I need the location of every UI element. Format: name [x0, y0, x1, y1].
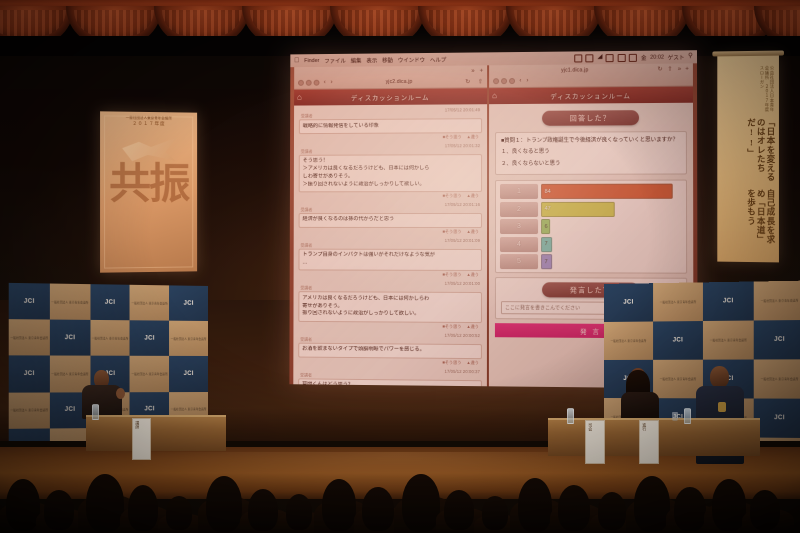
- audience-head: [402, 474, 440, 532]
- poll-bar-value: 47: [545, 206, 551, 212]
- reaction-disagree-button[interactable]: ▲違う: [466, 324, 479, 330]
- room-title-left: ディスカッションルーム: [351, 92, 429, 103]
- panelist-center: [618, 368, 662, 422]
- jci-org-name: 一般社団法人 東京青年会議所: [761, 377, 799, 381]
- menu-item-edit[interactable]: 編集: [351, 56, 362, 64]
- post-line: …: [302, 260, 478, 268]
- poll-bar: 7: [541, 237, 552, 252]
- slogan-line-2: 「日本を変えるのはオレたちだ!!」: [746, 118, 775, 187]
- poster-banner-left: 一般社団法人東京青年会議所 ２０１７年度 共振: [100, 111, 197, 272]
- jci-org-name: 一般社団法人 東京青年会議所: [171, 337, 207, 341]
- address-bar[interactable]: yjc2.dica.jp: [336, 78, 462, 85]
- jci-backdrop-tile: 一般社団法人 東京青年会議所: [50, 284, 90, 321]
- jci-logo: JCI: [24, 371, 35, 377]
- window-traffic-lights[interactable]: [493, 78, 515, 84]
- jci-logo: JCI: [673, 337, 683, 343]
- post-reactions[interactable]: ■そう思う▲違う: [298, 322, 482, 330]
- reaction-disagree-button[interactable]: ▲違う: [466, 272, 478, 278]
- menu-item-window[interactable]: ウインドウ: [398, 55, 425, 63]
- browser-chrome-left: » + ‹ › yjc2.dica.jp ↻ ⇧: [294, 65, 487, 89]
- jci-logo: JCI: [623, 300, 633, 306]
- poll-bar: 7: [541, 255, 552, 270]
- search-icon[interactable]: ⚲: [688, 54, 693, 61]
- jci-backdrop-tile: 一般社団法人 東京青年会議所: [653, 282, 703, 321]
- discussion-post: 17/05/12 20:01:00受講者アメリカは良くなるだろうけども、日本には…: [298, 281, 482, 330]
- menu-item-view[interactable]: 表示: [366, 56, 377, 64]
- battery-icon[interactable]: [606, 54, 614, 62]
- jci-backdrop-tile: 一般社団法人 東京青年会議所: [754, 281, 800, 321]
- post-line: 戦略的に情報発信をしている印象: [303, 122, 478, 131]
- jci-backdrop-tile: 一般社団法人 東京青年会議所: [754, 359, 800, 398]
- apple-logo-icon[interactable]: : [294, 57, 299, 64]
- post-reactions[interactable]: ■そう思う▲違う: [299, 133, 482, 141]
- discussion-post-list: 17/05/12 20:01:49受講者戦略的に情報発信をしている印象■そう思う…: [293, 104, 487, 386]
- room-header-left: ⌂ ディスカッションルーム: [294, 88, 487, 105]
- conference-hall-scene:  Finder ファイル 編集 表示 移動 ウインドウ ヘルプ ◢ 金 20:…: [0, 0, 800, 533]
- jci-backdrop-tile: JCI: [90, 284, 130, 320]
- jci-backdrop-tile: 一般社団法人 東京青年会議所: [130, 356, 169, 392]
- post-body: 経済が良くなるのは孫の代からだと思う: [299, 213, 482, 228]
- curtain-valance: [0, 0, 800, 36]
- jci-backdrop-tile: JCI: [754, 320, 800, 360]
- menu-item-file[interactable]: ファイル: [324, 56, 346, 64]
- jci-org-name: 一般社団法人 東京青年会議所: [710, 338, 747, 342]
- audience-head: [248, 489, 278, 531]
- reaction-agree-button[interactable]: ■そう思う: [443, 134, 462, 140]
- slogan-org-line: 公益社団法人日本青年会議所 ２０１７年度スローガン: [760, 66, 775, 116]
- reaction-disagree-button[interactable]: ▲違う: [466, 360, 479, 366]
- post-body: そう思う！＞アメリカは良くなるだろうけども、日本には何かしらしわ寄せがありそう。…: [299, 154, 482, 192]
- post-line: 経済が良くなるのは孫の代からだと思う: [303, 216, 479, 224]
- jci-backdrop-tile: JCI: [653, 321, 703, 360]
- speaker-left: [78, 370, 134, 420]
- poll-bar-value: 7: [545, 259, 548, 265]
- post-body: アメリカは良くなるだろうけども、日本には何かしらわ寄せがありそう。振り回されない…: [298, 292, 482, 323]
- post-reactions[interactable]: ■そう思う▲違う: [298, 271, 482, 279]
- post-body: お酒を飲まないタイプで頭脳明晰でパワーを感じる。: [298, 342, 482, 358]
- menubar-user[interactable]: ゲスト: [668, 53, 685, 61]
- poll-bar-index: 2: [500, 202, 538, 217]
- alert-icon[interactable]: [629, 53, 637, 61]
- audience-head: [166, 496, 192, 530]
- post-line: ＞振り回されないように政治がしっかりして欲しい。: [303, 181, 478, 189]
- plus-icon[interactable]: +: [480, 68, 484, 74]
- poster-kanji: 共振: [100, 164, 197, 206]
- share-icon[interactable]: ⇧: [668, 66, 673, 73]
- tabs-icon[interactable]: »: [471, 68, 474, 74]
- discussion-post: 17/05/12 20:01:32受講者そう思う！＞アメリカは良くなるだろうけど…: [299, 143, 482, 199]
- post-reactions[interactable]: ■そう思う▲違う: [299, 228, 482, 235]
- poll-option-2: ２、良くならないと思う: [501, 157, 681, 170]
- reaction-disagree-button[interactable]: ▲違う: [467, 134, 479, 140]
- poll-bar-index: 5: [500, 255, 538, 270]
- jci-org-name: 一般社団法人 東京青年会議所: [10, 408, 48, 412]
- jci-logo: JCI: [774, 337, 785, 343]
- forward-button[interactable]: ›: [525, 78, 529, 84]
- home-icon[interactable]: ⌂: [492, 91, 497, 100]
- poll-bar-row: 36: [500, 219, 682, 234]
- post-body: 戦略的に情報発信をしている印象: [299, 118, 482, 134]
- discussion-feed-page[interactable]: 17/05/12 20:01:49受講者戦略的に情報発信をしている印象■そう思う…: [293, 104, 487, 386]
- menu-item-finder[interactable]: Finder: [304, 58, 319, 64]
- question-text: ■質問１：トランプ政権誕生で今後経済が良くなっていくと思いますか？: [501, 136, 681, 146]
- jci-org-name: 一般社団法人 東京青年会議所: [660, 300, 697, 305]
- jci-logo: JCI: [723, 298, 734, 304]
- audience-head: [6, 479, 40, 531]
- reaction-agree-button[interactable]: ■そう思う: [442, 272, 461, 278]
- poll-bar-index: 3: [500, 219, 538, 234]
- poll-bar-value: 84: [545, 189, 551, 195]
- reaction-agree-button[interactable]: ■そう思う: [442, 193, 461, 199]
- poll-bar-value: 7: [545, 242, 548, 248]
- audience-head: [206, 476, 242, 532]
- jci-logo: JCI: [24, 298, 35, 304]
- jci-org-name: 一般社団法人 東京青年会議所: [171, 407, 207, 411]
- post-line: お酒を飲まないタイプで頭脳明晰でパワーを感じる。: [302, 346, 478, 355]
- audience-head: [712, 479, 746, 531]
- answered-pill[interactable]: 回答した？: [542, 110, 639, 126]
- reload-icon[interactable]: ↻: [465, 78, 470, 85]
- jci-logo: JCI: [65, 407, 76, 413]
- poll-bar: 84: [541, 184, 673, 199]
- window-traffic-lights[interactable]: [298, 80, 320, 86]
- discussion-post: 17/05/12 20:01:16受講者経済が良くなるのは孫の代からだと思う■そ…: [299, 202, 482, 235]
- audience-head: [44, 490, 74, 530]
- slogan-banner-right: 自己成長を求め「日本道」を歩もう 「日本を変えるのはオレたちだ!!」 公益社団法…: [717, 56, 779, 263]
- jci-logo: JCI: [144, 335, 154, 341]
- post-body: トランプ自身のインパクトは強いがそれだけなような気が…: [298, 248, 482, 271]
- jci-backdrop-tile: JCI: [169, 356, 208, 391]
- back-button[interactable]: ‹: [518, 78, 522, 84]
- jci-org-name: 一般社団法人 東京青年会議所: [660, 377, 697, 381]
- jci-backdrop-tile: JCI: [604, 283, 653, 322]
- jci-org-name: 一般社団法人 東京青年会議所: [51, 300, 88, 305]
- browser-window-discussion-feed[interactable]: » + ‹ › yjc2.dica.jp ↻ ⇧ ⌂: [293, 65, 487, 386]
- poll-bar-row: 47: [500, 237, 682, 252]
- jci-backdrop-tile: 一般社団法人 東京青年会議所: [130, 285, 169, 321]
- jci-logo: JCI: [65, 335, 76, 341]
- home-icon[interactable]: ⌂: [297, 92, 302, 101]
- speaker-left-hand: [116, 388, 125, 399]
- audience-head: [750, 490, 780, 530]
- room-header-right: ⌂ ディスカッションルーム: [489, 87, 693, 105]
- audience-head: [674, 487, 706, 531]
- input-source-icon[interactable]: [618, 53, 626, 61]
- plus-icon[interactable]: +: [685, 66, 689, 72]
- tabs-icon[interactable]: »: [678, 66, 681, 72]
- jci-logo: JCI: [105, 299, 116, 305]
- menu-item-go[interactable]: 移動: [382, 56, 393, 64]
- poll-bar-index: 4: [500, 237, 538, 252]
- audience-head: [86, 474, 124, 532]
- reaction-agree-button[interactable]: ■そう思う: [442, 324, 461, 330]
- forward-button[interactable]: ›: [330, 80, 334, 86]
- jci-org-name: 一般社団法人 東京青年会議所: [131, 372, 167, 376]
- browser-chrome-right: yjc1.dica.jp ↻ ⇧ » + ‹ ›: [489, 63, 693, 88]
- share-icon[interactable]: ⇧: [478, 78, 483, 85]
- jci-logo: JCI: [144, 406, 154, 412]
- display-icon[interactable]: [586, 54, 594, 62]
- discussion-post: 17/05/12 20:01:49受講者戦略的に情報発信をしている印象■そう思う…: [299, 107, 482, 141]
- jci-logo: JCI: [184, 371, 194, 377]
- banner-rod: [712, 50, 784, 56]
- jci-backdrop-tile: 一般社団法人 東京青年会議所: [703, 321, 754, 360]
- audience-head: [482, 496, 508, 530]
- jci-org-name: 一般社団法人 東京青年会議所: [92, 336, 129, 340]
- audience-head: [518, 478, 552, 532]
- jci-backdrop-tile: 一般社団法人 東京青年会議所: [9, 319, 50, 356]
- address-bar-right[interactable]: yjc1.dica.jp: [493, 66, 657, 74]
- audience-head: [558, 485, 590, 531]
- slogan-line-1: 自己成長を求め「日本道」を歩もう: [746, 189, 775, 253]
- discussion-post: 17/05/12 20:01:09受講者トランプ自身のインパクトは強いがそれだけ…: [298, 238, 482, 279]
- jci-org-name: 一般社団法人 東京青年会議所: [611, 339, 647, 343]
- jci-backdrop-tile: 一般社団法人 東京青年会議所: [169, 321, 208, 357]
- poll-bar: 6: [541, 219, 550, 234]
- question-box: ■質問１：トランプ政権誕生で今後経済が良くなっていくと思いますか？ １、良くなる…: [495, 131, 687, 175]
- menu-item-help[interactable]: ヘルプ: [430, 55, 446, 63]
- reaction-disagree-button[interactable]: ▲違う: [467, 229, 479, 235]
- menubar-day: 金: [641, 53, 647, 61]
- reaction-agree-button[interactable]: ■そう思う: [442, 359, 461, 365]
- discussion-post: 17/05/12 20:00:52受講者お酒を飲まないタイプで頭脳明晰でパワーを…: [298, 332, 482, 366]
- jci-backdrop-tile: 一般社団法人 東京青年会議所: [90, 320, 130, 356]
- jci-backdrop-tile: JCI: [9, 356, 50, 392]
- jci-org-name: 一般社団法人 東京青年会議所: [131, 301, 167, 305]
- poll-option-1: １、良くなると思う: [501, 145, 681, 158]
- poll-bar-row: 57: [500, 255, 682, 271]
- audience-head: [444, 490, 474, 530]
- jci-backdrop-tile: JCI: [130, 320, 169, 356]
- poll-bar-row: 184: [500, 184, 682, 199]
- jci-org-name: 一般社団法人 東京青年会議所: [10, 335, 48, 339]
- poll-bar: 47: [541, 202, 614, 217]
- menubar-clock[interactable]: 20:02: [650, 54, 664, 60]
- audience-head: [362, 487, 394, 531]
- audience-head: [322, 479, 356, 531]
- audience-head: [598, 492, 626, 530]
- back-button[interactable]: ‹: [323, 80, 327, 86]
- panelist-right-badge: [718, 402, 726, 412]
- discussion-post: 17/05/12 20:00:37受講者草間くんはどう思う？■そう思う▲違う: [298, 367, 482, 386]
- jci-backdrop-tile: 一般社団法人 東京青年会議所: [604, 322, 653, 360]
- jci-backdrop-tile: JCI: [703, 282, 754, 322]
- audience-silhouettes: [0, 415, 800, 533]
- poll-bar-value: 6: [545, 224, 548, 230]
- post-line: トランプ自身のインパクトは強いがそれだけなような気が: [302, 252, 478, 260]
- reaction-agree-button[interactable]: ■そう思う: [442, 229, 461, 235]
- post-reactions[interactable]: ■そう思う▲違う: [298, 357, 482, 366]
- reaction-disagree-button[interactable]: ▲違う: [467, 193, 479, 199]
- reload-icon[interactable]: ↻: [657, 66, 662, 73]
- poll-bar-index: 1: [500, 184, 538, 199]
- jci-backdrop-tile: JCI: [50, 320, 90, 356]
- jci-backdrop-tile: JCI: [169, 285, 208, 321]
- room-title-right: ディスカッションルーム: [550, 90, 630, 101]
- jci-backdrop-tile: JCI: [9, 283, 50, 320]
- post-line: 振り回されないように政治がしっかりして欲しい。: [302, 310, 478, 319]
- audience-head: [128, 485, 158, 531]
- poll-bar-row: 247: [500, 202, 682, 217]
- wifi-icon[interactable]: ◢: [597, 54, 602, 61]
- jci-logo: JCI: [184, 300, 194, 306]
- jci-org-name: 一般社団法人 東京青年会議所: [761, 298, 799, 303]
- dropbox-icon[interactable]: [574, 54, 582, 62]
- audience-head: [286, 494, 312, 530]
- panelist-right-head: [710, 366, 729, 388]
- poll-result-bars: 184247364757: [495, 180, 687, 274]
- post-reactions[interactable]: ■そう思う▲違う: [299, 192, 482, 199]
- audience-head: [634, 476, 670, 532]
